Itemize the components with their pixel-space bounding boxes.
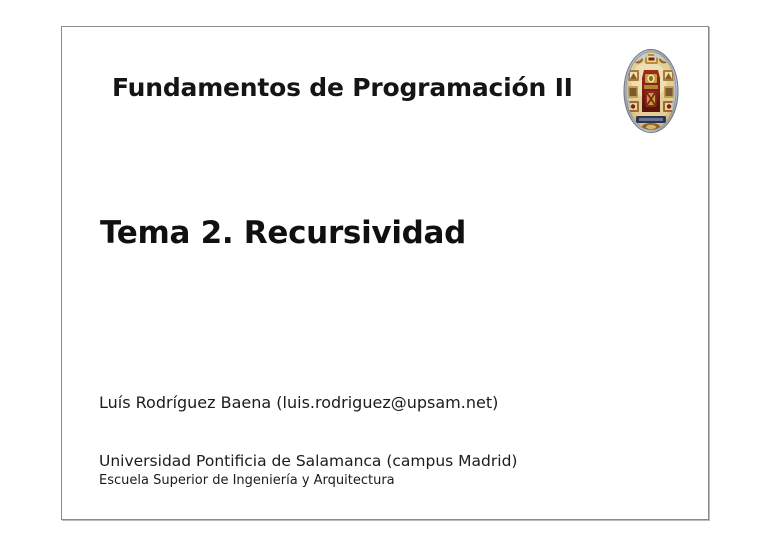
institution-block: Universidad Pontificia de Salamanca (cam… [99,452,517,489]
slide-canvas: Fundamentos de Programación II [0,0,768,543]
slide-header-title: Fundamentos de Programación II [112,73,573,102]
slide-main-title: Tema 2. Recursividad [100,215,466,251]
institution-school: Escuela Superior de Ingeniería y Arquite… [99,473,517,489]
university-coat-of-arms-icon [622,48,680,134]
institution-name: Universidad Pontificia de Salamanca (cam… [99,452,517,471]
slide-frame: Fundamentos de Programación II [61,26,709,520]
author-line: Luís Rodríguez Baena (luis.rodriguez@ups… [99,393,498,412]
